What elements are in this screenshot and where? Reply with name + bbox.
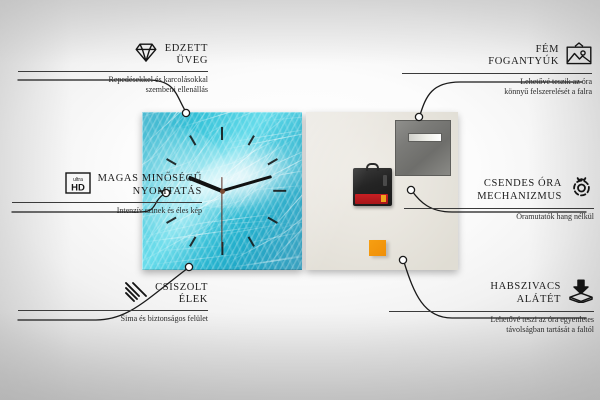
feature-description: Lehetővé teszi az óra egyenletes távolsá… xyxy=(389,315,594,335)
gear-icon xyxy=(569,176,594,205)
feature-polished-edges[interactable]: CSISZOLT ÉLEK Sima és biztonságos felüle… xyxy=(18,281,208,324)
feature-foam-pad[interactable]: HABSZIVACS ALÁTÉT Lehetővé teszi az óra … xyxy=(389,279,594,335)
feature-description: Repedésekkel és karcolásokkal szembeni e… xyxy=(18,75,208,95)
foam-pad-arrow-icon xyxy=(568,279,594,308)
feature-description: Sima és biztonságos felület xyxy=(18,314,208,324)
feature-title: EDZETT ÜVEG xyxy=(165,43,208,68)
feature-title: CSISZOLT ÉLEK xyxy=(155,282,208,307)
feature-title: FÉM FOGANTYÚK xyxy=(488,44,559,69)
svg-text:HD: HD xyxy=(71,182,85,193)
feature-description: Lehetővé teszik az óra könnyű felszerelé… xyxy=(402,77,592,97)
metal-hanger-plate xyxy=(395,120,451,176)
clock-mechanism xyxy=(353,168,392,206)
feature-divider xyxy=(402,73,592,74)
feature-divider xyxy=(404,208,594,209)
picture-hanger-icon xyxy=(566,42,592,70)
feature-divider xyxy=(18,310,208,311)
feature-high-quality-print[interactable]: ultra HD MAGAS MINŐSÉGŰ NYOMTATÁS Intenz… xyxy=(12,172,202,216)
mechanism-adjust-knob xyxy=(383,175,387,186)
ultra-hd-icon: ultra HD xyxy=(65,172,91,199)
diamond-icon xyxy=(134,42,158,68)
feature-title: MAGAS MINŐSÉGŰ NYOMTATÁS xyxy=(98,173,202,198)
feature-divider xyxy=(18,71,208,72)
foam-spacer-pad xyxy=(369,240,386,256)
mechanism-hanging-loop xyxy=(366,163,379,171)
feature-metal-handles[interactable]: FÉM FOGANTYÚK Lehetővé teszik az óra kön… xyxy=(402,42,592,97)
feature-divider xyxy=(389,311,594,312)
feature-silent-mechanism[interactable]: CSENDES ÓRA MECHANIZMUS Óramutatók hang … xyxy=(404,176,594,222)
feature-description: Intenzív színek és éles kép xyxy=(12,206,202,216)
feature-title: HABSZIVACS ALÁTÉT xyxy=(490,281,561,306)
feature-title: CSENDES ÓRA MECHANIZMUS xyxy=(477,178,562,203)
feature-divider xyxy=(12,202,202,203)
feature-description: Óramutatók hang nélkül xyxy=(404,212,594,222)
feature-tempered-glass[interactable]: EDZETT ÜVEG Repedésekkel és karcolásokka… xyxy=(18,42,208,95)
polished-edges-icon xyxy=(124,281,148,307)
battery-compartment xyxy=(355,194,388,204)
